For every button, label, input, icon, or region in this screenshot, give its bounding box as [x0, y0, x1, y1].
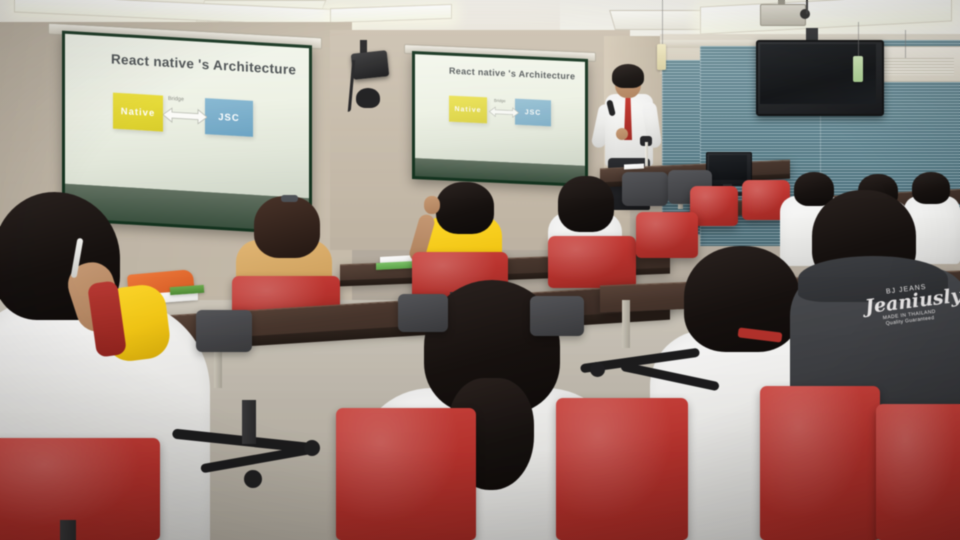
student-mustard-top-hairclip	[281, 195, 298, 202]
main-slide-native-box: Native	[113, 93, 163, 132]
secondary-slide-jsc-label: JSC	[525, 109, 542, 117]
secondary-slide-bridge-label: Bridge	[494, 98, 506, 104]
secondary-projection-screen: React native 's Architecture Native JSC …	[412, 51, 588, 187]
caster-left-2	[304, 440, 320, 456]
caster-mid-1	[590, 362, 605, 377]
student-yellow-top-hair	[436, 182, 494, 234]
main-slide-native-label: Native	[121, 106, 156, 119]
presenter-hand	[616, 128, 628, 140]
secondary-slide-native-label: Native	[454, 105, 481, 113]
wall-speaker	[351, 50, 390, 80]
secondary-slide-jsc-box: JSC	[515, 99, 551, 127]
speaker-driver-icon	[356, 88, 380, 108]
student-white-top-center-hair	[558, 176, 614, 232]
middle-chair-dark-right	[530, 296, 584, 336]
student-grey-hoodie-hood	[798, 256, 948, 302]
projector-cable	[806, 0, 824, 14]
main-slide-bridge-label: Bridge	[168, 96, 184, 103]
front-long-desk-leg-2	[622, 300, 630, 348]
student-far-right-hair	[912, 172, 950, 204]
caster-left-1	[244, 470, 262, 488]
presenter-hair	[612, 64, 644, 88]
student-yellow-top-hand	[424, 196, 440, 214]
middle-chair-3	[548, 236, 636, 288]
chair-post-center	[242, 400, 256, 444]
desk-paper-front	[624, 163, 644, 169]
secondary-slide-title: React native 's Architecture	[449, 66, 575, 82]
student-mustard-top-hair	[254, 196, 320, 258]
main-slide-jsc-box: JSC	[205, 98, 253, 137]
lecture-room-photo: React native 's Architecture Native JSC …	[0, 0, 960, 540]
foreground-chair-center-right	[556, 398, 688, 540]
monitor-screen	[709, 155, 747, 180]
middle-chair-4	[636, 212, 698, 258]
main-slide-bridge-arrow	[163, 106, 207, 127]
foreground-chair-far-right	[876, 404, 960, 540]
secondary-slide-bridge-arrow	[489, 106, 519, 119]
middle-chair-dark-left	[196, 310, 252, 352]
hanging-tag-line-2	[858, 22, 859, 56]
hanging-tag-1	[657, 44, 666, 70]
main-slide-jsc-label: JSC	[218, 111, 239, 123]
hanging-tag-2	[853, 56, 863, 82]
hanging-tag-line-1	[662, 0, 663, 44]
secondary-slide-native-box: Native	[449, 96, 487, 124]
middle-chair-dark-center	[398, 294, 448, 332]
foreground-chair-right	[760, 386, 880, 540]
front-chair-1	[622, 172, 668, 206]
hanging-tag-line-3	[905, 30, 906, 58]
foreground-chair-center-left	[336, 408, 476, 540]
foreground-chair-left	[0, 438, 160, 540]
ceiling-projector	[760, 4, 806, 26]
secondary-screen-surface: React native 's Architecture Native JSC …	[415, 54, 585, 166]
main-slide-title: React native 's Architecture	[111, 51, 296, 77]
foreground-chair-post-left	[60, 520, 76, 540]
main-screen-surface: React native 's Architecture Native JSC …	[65, 34, 309, 198]
